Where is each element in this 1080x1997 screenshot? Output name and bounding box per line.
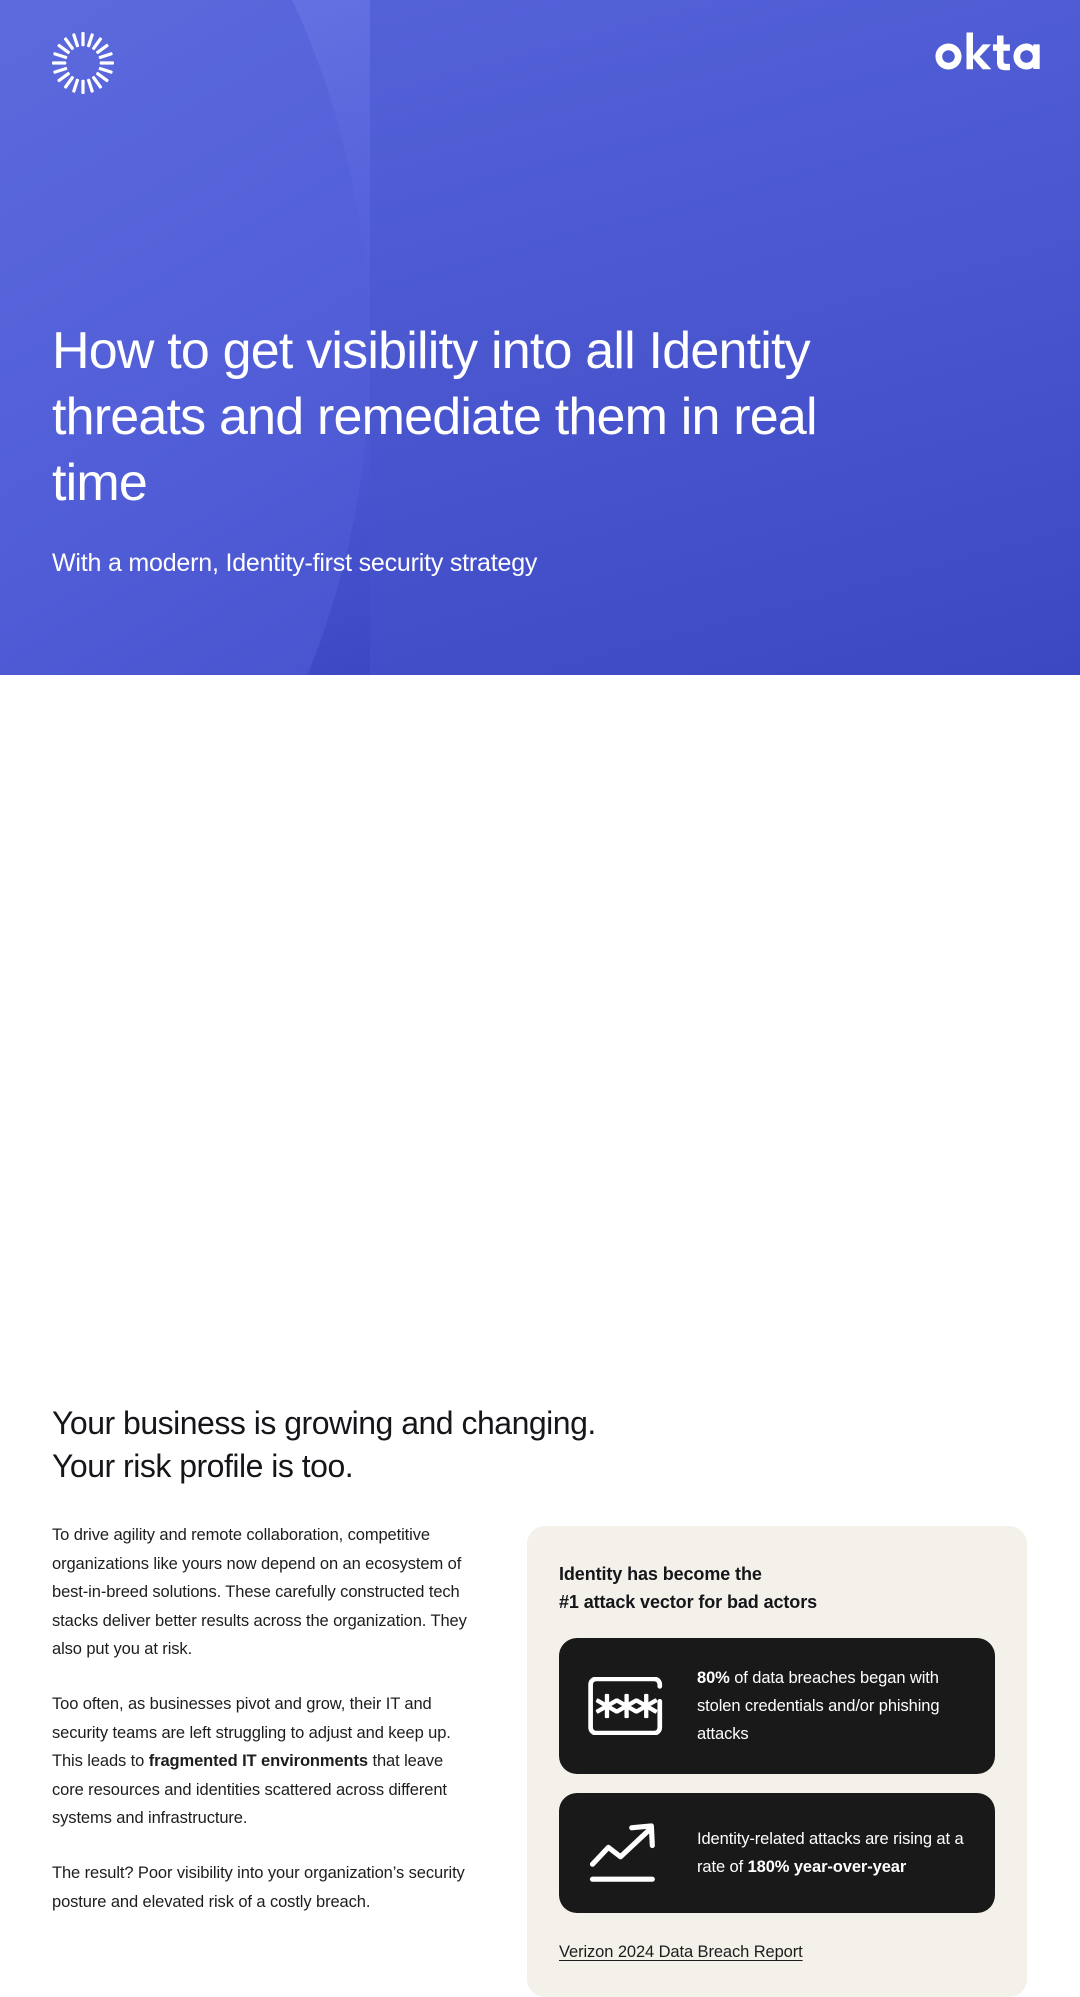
section-heading: Your business is growing and changing.Yo… [52, 1402, 812, 1488]
source-link[interactable]: Verizon 2024 Data Breach Report [559, 1940, 803, 1964]
okta-wordmark [932, 30, 1042, 80]
stat-panel: Identity has become the#1 attack vector … [527, 1526, 1027, 1997]
okta-aura-sunburst-icon [52, 32, 114, 94]
password-field-asterisks-icon [585, 1677, 671, 1735]
body-paragraph: The result? Poor visibility into your or… [52, 1859, 472, 1916]
stat-card-text: Identity-related attacks are rising at a… [697, 1825, 969, 1881]
body-paragraph: Too often, as businesses pivot and grow,… [52, 1690, 472, 1833]
body-copy-column: To drive agility and remote collaboratio… [52, 1521, 472, 1916]
hero-banner: How to get visibility into all Identity … [0, 0, 1080, 675]
stat-panel-title: Identity has become the#1 attack vector … [559, 1560, 995, 1616]
stat-card: Identity-related attacks are rising at a… [559, 1793, 995, 1913]
page-title: How to get visibility into all Identity … [52, 318, 912, 516]
page-subtitle: With a modern, Identity-first security s… [52, 546, 852, 580]
body-paragraph: To drive agility and remote collaboratio… [52, 1521, 472, 1664]
rising-trend-arrow-icon [585, 1819, 671, 1887]
stat-card-text: 80% of data breaches began with stolen c… [697, 1664, 969, 1748]
stat-card: 80% of data breaches began with stolen c… [559, 1638, 995, 1774]
